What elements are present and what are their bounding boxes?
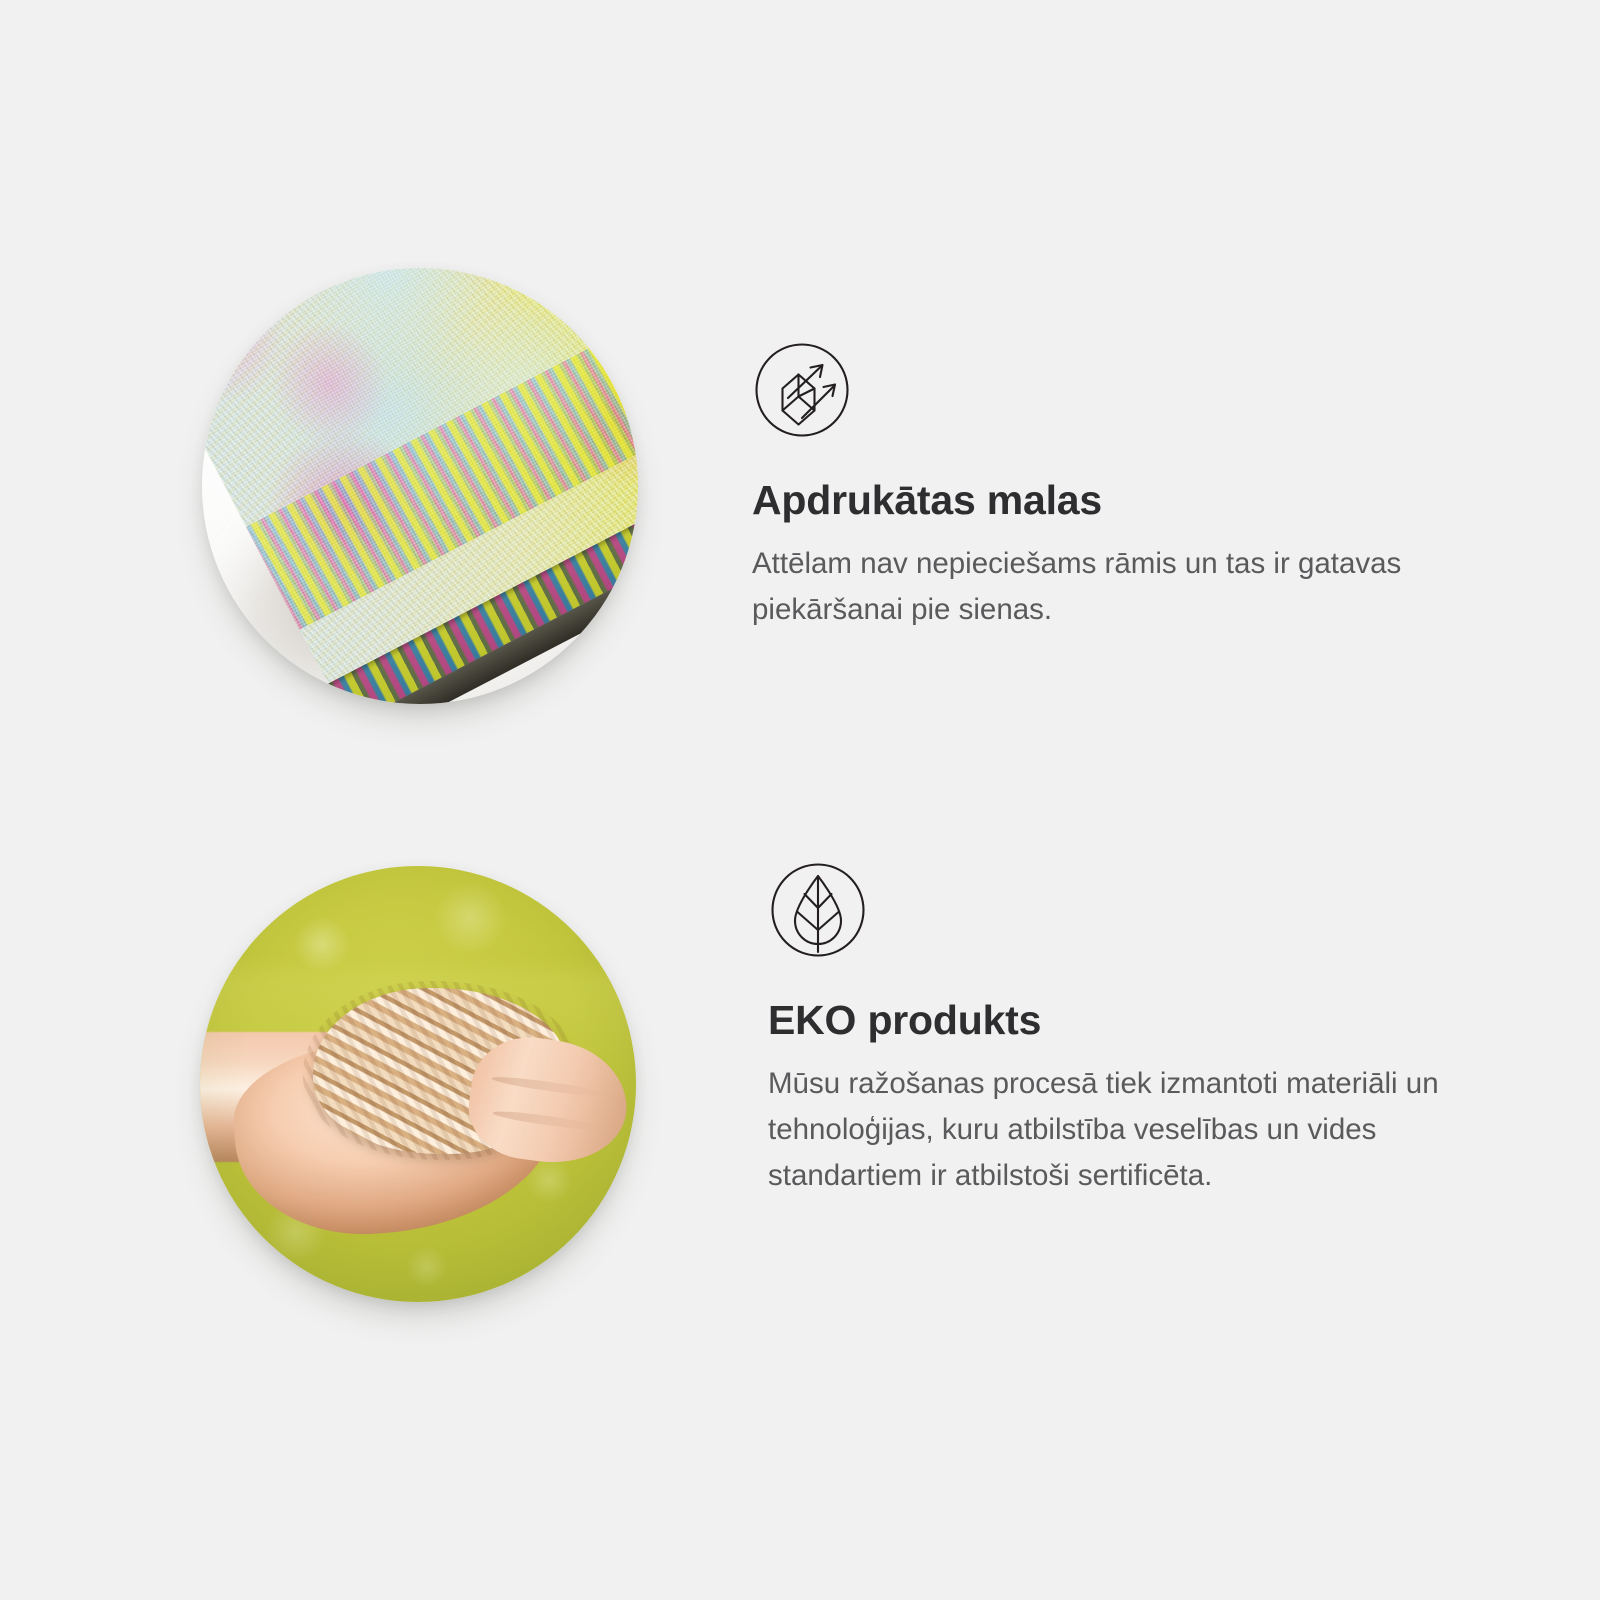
feature-title-printed-edges: Apdrukātas malas [752, 478, 1102, 523]
canvas-corner-photo [202, 268, 638, 704]
canvas-corner-photo-frame [202, 268, 638, 704]
feature-description-eko-product: Mūsu ražošanas procesā tiek izmantoti ma… [768, 1061, 1478, 1198]
photo-vignette [200, 866, 636, 1302]
feature-title-eko-product: EKO produkts [768, 998, 1041, 1043]
hands-wood-chips-photo-frame [200, 866, 636, 1302]
feature-printed-edges: Apdrukātas malas Attēlam nav nepieciešam… [752, 340, 1472, 633]
feature-description-printed-edges: Attēlam nav nepieciešams rāmis un tas ir… [752, 541, 1472, 632]
leaf-icon [768, 860, 868, 960]
feature-info-page: Apdrukātas malas Attēlam nav nepieciešam… [0, 0, 1600, 1600]
hands-wood-chips-photo [200, 866, 636, 1302]
feature-eko-product: EKO produkts Mūsu ražošanas procesā tiek… [768, 860, 1478, 1198]
canvas-wrap-arrows-icon [752, 340, 852, 440]
